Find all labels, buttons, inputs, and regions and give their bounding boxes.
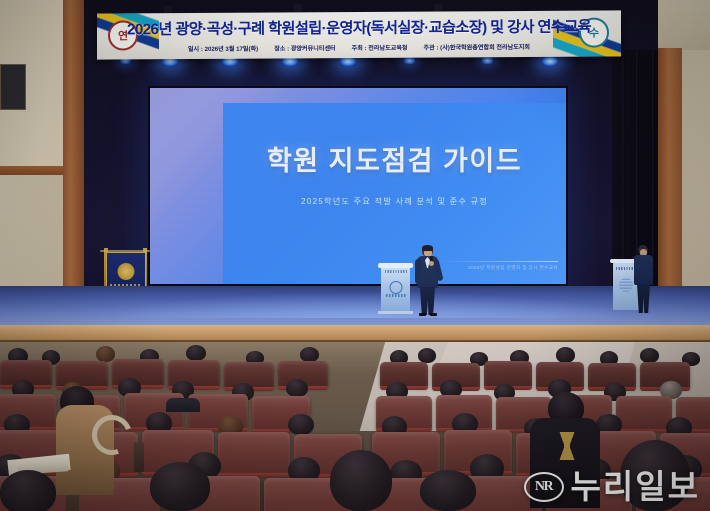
attendee-head	[288, 414, 314, 435]
presenter-legs	[420, 287, 435, 315]
podium-top	[378, 263, 413, 268]
banner-title: 2026년 광양·곡성·구례 학원설립·운영자(독서실장·교습소장) 및 강사 …	[141, 14, 577, 41]
front-attendee-head	[420, 470, 476, 511]
podium	[381, 266, 410, 313]
attendee-head	[286, 379, 308, 397]
nuri-ilbo-logo-icon: NR	[524, 472, 564, 502]
auditorium-seat	[616, 396, 672, 430]
auditorium-seat	[484, 361, 532, 387]
front-attendee-head	[0, 470, 56, 511]
slide-title: 학원 지도점검 가이드	[223, 139, 566, 178]
attendee-head	[640, 348, 659, 363]
attendee-shoulders	[166, 398, 200, 412]
slide-footer: 2026년 학원설립·운영자 및 강사 연수교육	[468, 265, 558, 271]
presenter	[415, 245, 441, 315]
staff-suit	[634, 255, 653, 285]
presenter-hair	[422, 245, 433, 251]
attendee-head	[556, 347, 575, 363]
presenter-arm-left	[415, 259, 421, 284]
right-wall-top	[658, 0, 710, 50]
front-attendee-head	[150, 462, 210, 511]
attendee-head	[418, 348, 436, 363]
stage-light	[542, 56, 558, 66]
stage-floor-glow	[104, 292, 634, 318]
podium-base	[378, 311, 413, 314]
hoodie-graphic-print	[552, 432, 582, 460]
wall-panel-dark	[0, 64, 26, 110]
stage-light	[482, 57, 493, 64]
auditorium-seat	[56, 361, 108, 387]
banner-detail-host: 주최 : 전라남도교육청	[352, 43, 408, 52]
watermark-text: 누리일보	[571, 470, 700, 503]
watermark: NR 누리일보	[524, 470, 700, 503]
banner-detail-place: 장소 : 광양커뮤니티센터	[274, 43, 335, 52]
slide-subtitle: 2025학년도 주요 적발 사례 분석 및 준수 규정	[223, 195, 566, 207]
banner-detail-date: 일시 : 2026년 3월 17일(화)	[188, 44, 258, 53]
wall-wood-trim	[0, 166, 70, 175]
event-banner: 연 수 2026년 광양·곡성·구례 학원설립·운영자(독서실장·교습소장) 및…	[97, 10, 621, 59]
staff-person	[633, 245, 655, 313]
auditorium-seat	[218, 432, 290, 474]
presentation-slide: 학원 지도점검 가이드 2025학년도 주요 적발 사례 분석 및 준수 규정 …	[223, 103, 566, 284]
projection-screen: 학원 지도점검 가이드 2025학년도 주요 적발 사례 분석 및 준수 규정 …	[150, 88, 566, 284]
attendee-head	[186, 345, 206, 361]
podium-logo-text	[386, 294, 406, 297]
attendee-head	[300, 347, 319, 362]
stage-light	[404, 57, 415, 64]
attendee-head	[96, 346, 115, 362]
podium-logo-icon	[389, 281, 402, 294]
flag-emblem-icon	[118, 263, 135, 280]
seat-armrest	[134, 442, 144, 472]
banner-details: 일시 : 2026년 3월 17일(화) 장소 : 광양커뮤니티센터 주최 : …	[141, 39, 577, 57]
lectern-logo-icon	[619, 278, 633, 292]
podium-label	[385, 270, 407, 273]
auditorium-photo: 연 수 2026년 광양·곡성·구례 학원설립·운영자(독서실장·교습소장) 및…	[0, 0, 710, 511]
staff-legs	[637, 284, 650, 313]
banner-detail-organizer: 주관 : (사)한국학원총연합회 전라남도지회	[424, 42, 530, 52]
front-attendee-head	[330, 450, 392, 511]
presenter-hand	[429, 261, 434, 266]
slide-footer-rule	[438, 261, 558, 262]
